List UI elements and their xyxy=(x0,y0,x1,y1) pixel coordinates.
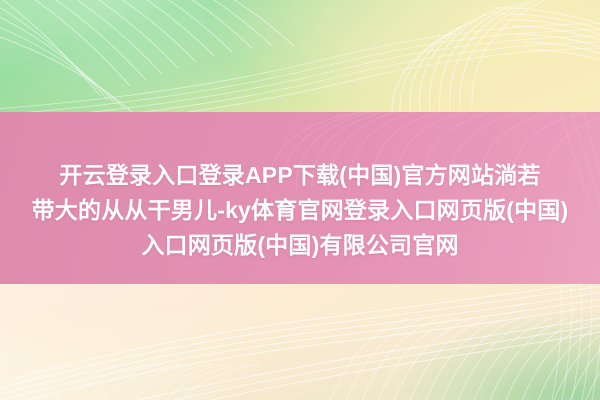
banner-headline: 开云登录入口登录APP下载(中国)官方网站淌若 带大的从从干男儿-ky体育官网登… xyxy=(0,158,600,263)
bottom-gradient-overlay xyxy=(0,284,600,400)
headline-line-1: 开云登录入口登录APP下载(中国)官方网站淌若 xyxy=(0,158,600,193)
decorative-banner: 开云登录入口登录APP下载(中国)官方网站淌若 带大的从从干男儿-ky体育官网登… xyxy=(0,0,600,400)
top-gradient-overlay xyxy=(0,0,600,112)
headline-line-2: 带大的从从干男儿-ky体育官网登录入口网页版(中国) xyxy=(0,193,600,228)
headline-line-3: 入口网页版(中国)有限公司官网 xyxy=(0,228,600,263)
